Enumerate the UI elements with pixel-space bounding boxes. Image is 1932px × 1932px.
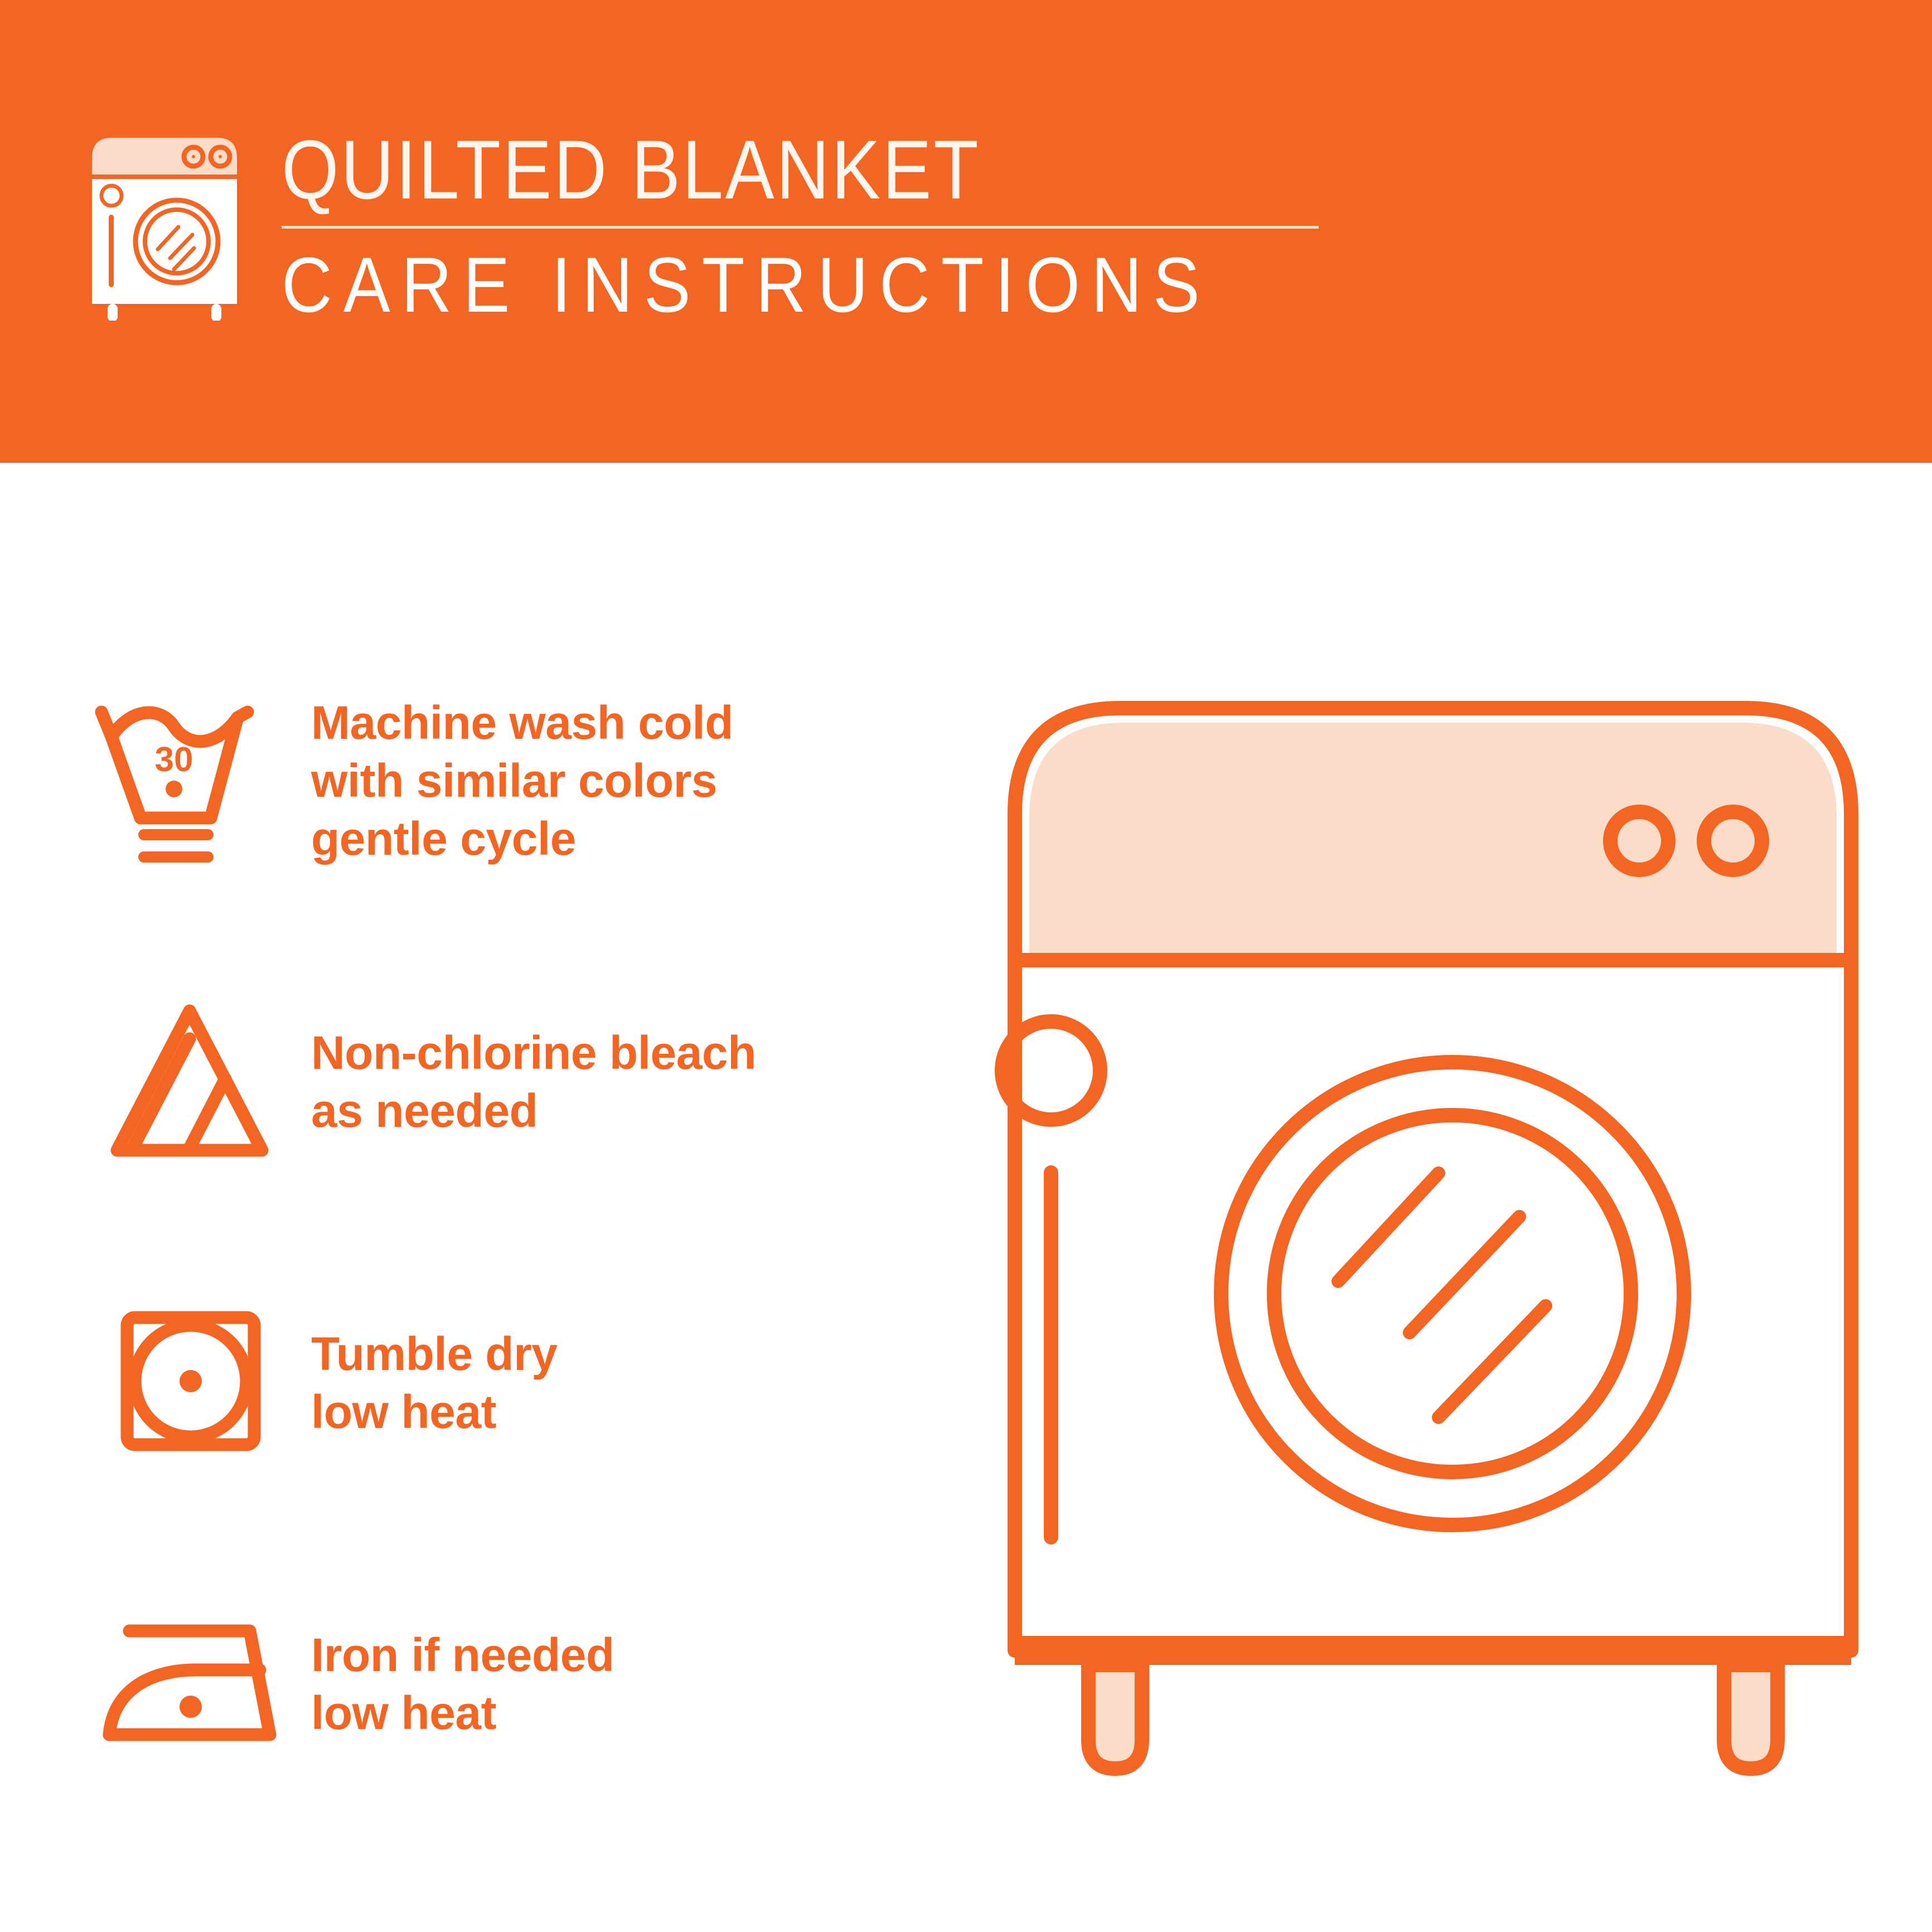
- header-content: QUILTED BLANKET CARE INSTRUCTIONS: [81, 125, 1363, 343]
- front-load-washing-machine-illustration: [948, 630, 1907, 1801]
- header-title-block: QUILTED BLANKET CARE INSTRUCTIONS: [282, 125, 1363, 325]
- care-symbol-row-iron: Iron if needed low heat: [78, 1567, 914, 1801]
- washing-machine-icon: [81, 125, 248, 321]
- wash-tub-30-icon: 30: [78, 680, 301, 881]
- care-symbol-row-tumble-dry: Tumble dry low heat: [78, 1266, 914, 1500]
- header-banner: QUILTED BLANKET CARE INSTRUCTIONS: [0, 0, 1932, 463]
- page-title: QUILTED BLANKET: [282, 128, 1233, 211]
- care-symbol-row-wash: 30 Machine wash cold with similar colors…: [78, 664, 914, 898]
- care-symbol-label: Machine wash cold with similar colors ge…: [301, 694, 914, 868]
- care-instructions-page: QUILTED BLANKET CARE INSTRUCTIONS: [0, 0, 1932, 1932]
- care-symbol-list: 30 Machine wash cold with similar colors…: [78, 664, 914, 1801]
- care-symbol-label: Non-chlorine bleach as needed: [301, 1024, 914, 1140]
- title-divider: [282, 226, 1319, 229]
- tumble-dry-low-icon: [78, 1282, 301, 1483]
- iron-low-heat-icon: [78, 1584, 301, 1784]
- page-subtitle: CARE INSTRUCTIONS: [282, 245, 1255, 325]
- care-symbol-label: Tumble dry low heat: [301, 1325, 914, 1441]
- non-chlorine-bleach-triangle-icon: [78, 981, 301, 1182]
- wash-temperature-label: 30: [155, 740, 193, 779]
- care-symbol-label: Iron if needed low heat: [301, 1626, 914, 1742]
- care-symbol-row-bleach: Non-chlorine bleach as needed: [78, 965, 914, 1199]
